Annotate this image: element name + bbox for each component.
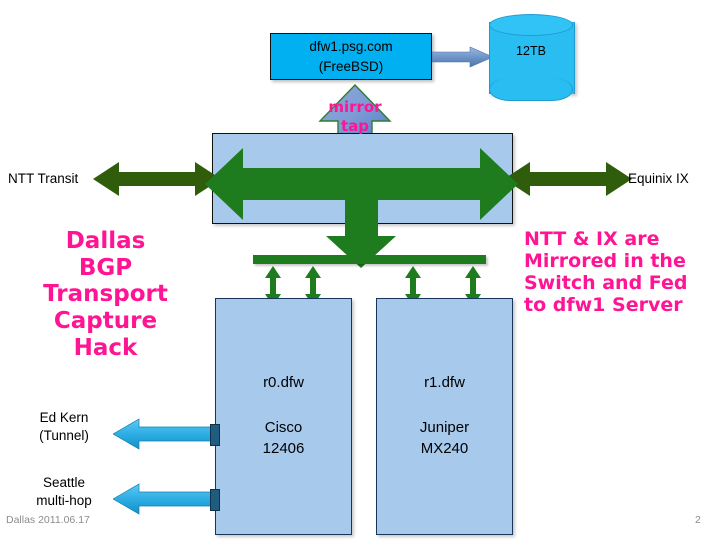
cylinder-bottom-ellipse bbox=[489, 78, 573, 101]
egress-label-ed-kern-line1: Ed Kern bbox=[18, 409, 110, 427]
slide-title-left-line1: Dallas bbox=[8, 228, 203, 255]
router-model-r1: MX240 bbox=[420, 438, 469, 459]
egress-arrow-seattle bbox=[113, 483, 215, 515]
ntt-transit-label: NTT Transit bbox=[8, 171, 78, 186]
footer-date: Dallas 2011.06.17 bbox=[6, 514, 90, 526]
slide-note-right-line3: Switch and Fed bbox=[524, 272, 720, 294]
equinix-ix-arrow bbox=[504, 160, 632, 198]
server-os: (FreeBSD) bbox=[319, 57, 384, 77]
router-port-cap-2 bbox=[210, 489, 220, 511]
storage-cylinder-12tb[interactable]: 12TB bbox=[489, 14, 573, 102]
slide-note-right-line4: to dfw1 Server bbox=[524, 294, 720, 316]
slide-note-right: NTT & IX are Mirrored in the Switch and … bbox=[524, 228, 720, 316]
router-vendor-r0: Cisco bbox=[263, 417, 305, 438]
slide-title-left-line4: Capture bbox=[8, 308, 203, 335]
slide-canvas: dfw1.psg.com (FreeBSD) 12TB bbox=[0, 0, 720, 540]
storage-capacity-label: 12TB bbox=[489, 44, 573, 58]
slide-note-right-line1: NTT & IX are bbox=[524, 228, 720, 250]
switch-mirror-path-arrow bbox=[205, 140, 518, 270]
footer-page-number: 2 bbox=[695, 514, 701, 526]
router-model-r0: 12406 bbox=[263, 438, 305, 459]
router-vendor-r1: Juniper bbox=[420, 417, 469, 438]
slide-title-left-line3: Transport bbox=[8, 281, 203, 308]
egress-label-ed-kern: Ed Kern (Tunnel) bbox=[18, 409, 110, 445]
mirror-tap-label: mirror tap bbox=[318, 98, 392, 136]
egress-label-ed-kern-line2: (Tunnel) bbox=[18, 427, 110, 445]
router-name-r1: r1.dfw bbox=[424, 374, 465, 391]
router-port-cap-1 bbox=[210, 424, 220, 446]
egress-arrow-ed-kern bbox=[113, 418, 215, 450]
router-box-r1-dfw[interactable]: r1.dfw Juniper MX240 bbox=[376, 298, 513, 535]
egress-label-seattle-line1: Seattle bbox=[18, 474, 110, 492]
server-box-dfw1[interactable]: dfw1.psg.com (FreeBSD) bbox=[270, 33, 432, 80]
router-box-r0-dfw[interactable]: r0.dfw Cisco 12406 bbox=[215, 298, 352, 535]
mirror-tap-label-line2: tap bbox=[318, 117, 392, 136]
router-name-r0: r0.dfw bbox=[263, 374, 304, 391]
server-hostname: dfw1.psg.com bbox=[309, 37, 392, 57]
cylinder-top-ellipse bbox=[489, 14, 573, 36]
mirror-tap-label-line1: mirror bbox=[318, 98, 392, 117]
slide-title-left-line5: Hack bbox=[8, 335, 203, 362]
egress-label-seattle-line2: multi-hop bbox=[18, 492, 110, 510]
ntt-transit-arrow bbox=[93, 160, 221, 198]
server-to-storage-arrow bbox=[432, 46, 494, 68]
egress-label-seattle: Seattle multi-hop bbox=[18, 474, 110, 510]
slide-note-right-line2: Mirrored in the bbox=[524, 250, 720, 272]
slide-title-left: Dallas BGP Transport Capture Hack bbox=[8, 228, 203, 361]
slide-title-left-line2: BGP bbox=[8, 255, 203, 282]
equinix-ix-label: Equinix IX bbox=[628, 171, 689, 186]
router-bus-bar bbox=[253, 255, 486, 264]
